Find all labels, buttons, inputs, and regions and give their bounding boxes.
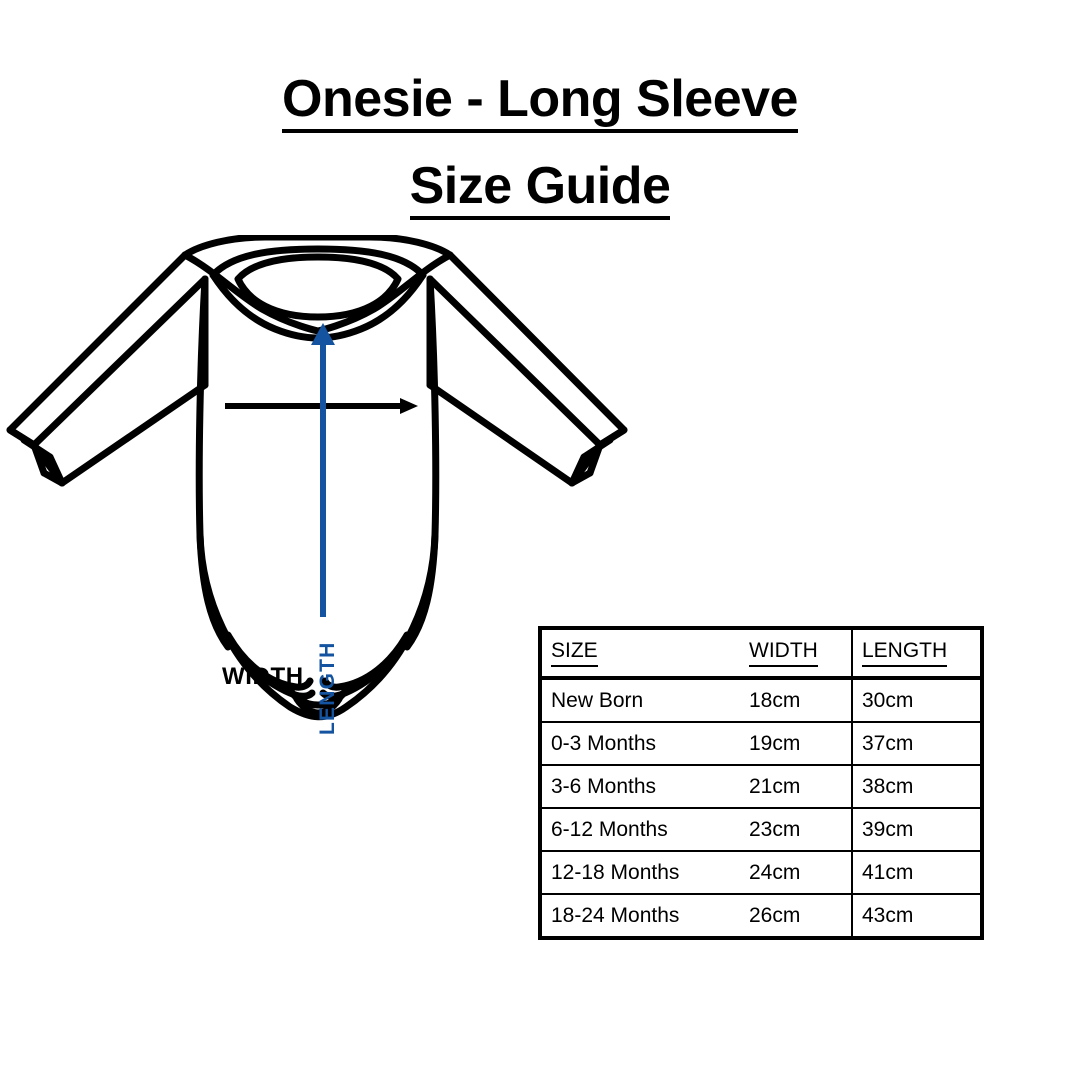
table-row: 18-24 Months 26cm 43cm — [540, 894, 982, 938]
title-line-2-text: Size Guide — [410, 159, 671, 220]
cell-width: 23cm — [740, 808, 852, 851]
title-line-1: Onesie - Long Sleeve — [0, 72, 1080, 133]
size-table: SIZE WIDTH LENGTH New Born 18cm 30cm 0-3… — [538, 626, 984, 940]
cell-length: 43cm — [852, 894, 982, 938]
cell-length: 41cm — [852, 851, 982, 894]
header-cell-size: SIZE — [540, 628, 740, 678]
table-row: 12-18 Months 24cm 41cm — [540, 851, 982, 894]
width-label: WIDTH — [222, 663, 304, 691]
length-measurement-arrow — [311, 323, 335, 617]
cell-length: 30cm — [852, 678, 982, 722]
page-title: Onesie - Long Sleeve Size Guide — [0, 72, 1080, 220]
left-sleeve-under-outline — [34, 385, 205, 483]
cell-length: 39cm — [852, 808, 982, 851]
right-sleeve-under-outline — [430, 385, 600, 483]
size-guide-page: Onesie - Long Sleeve Size Guide — [0, 0, 1080, 1080]
title-line-2: Size Guide — [0, 159, 1080, 220]
right-sleeve-top-outline — [430, 255, 624, 445]
cell-size: 12-18 Months — [540, 851, 740, 894]
cell-size: New Born — [540, 678, 740, 722]
cell-width: 21cm — [740, 765, 852, 808]
left-sleeve-top-outline — [10, 255, 205, 445]
cell-size: 6-12 Months — [540, 808, 740, 851]
cell-size: 0-3 Months — [540, 722, 740, 765]
cell-width: 18cm — [740, 678, 852, 722]
size-table-container: SIZE WIDTH LENGTH New Born 18cm 30cm 0-3… — [538, 626, 980, 940]
table-row: New Born 18cm 30cm — [540, 678, 982, 722]
header-label-width: WIDTH — [749, 639, 818, 666]
cell-size: 3-6 Months — [540, 765, 740, 808]
table-header-row: SIZE WIDTH LENGTH — [540, 628, 982, 678]
header-cell-length: LENGTH — [852, 628, 982, 678]
cell-length: 38cm — [852, 765, 982, 808]
table-row: 3-6 Months 21cm 38cm — [540, 765, 982, 808]
table-row: 6-12 Months 23cm 39cm — [540, 808, 982, 851]
header-label-length: LENGTH — [862, 639, 947, 666]
title-line-1-text: Onesie - Long Sleeve — [282, 72, 798, 133]
cell-width: 26cm — [740, 894, 852, 938]
header-cell-width: WIDTH — [740, 628, 852, 678]
cell-size: 18-24 Months — [540, 894, 740, 938]
neck-opening — [238, 257, 398, 317]
cell-width: 19cm — [740, 722, 852, 765]
header-label-size: SIZE — [551, 639, 598, 666]
cell-width: 24cm — [740, 851, 852, 894]
length-label: LENGTH — [316, 625, 340, 735]
table-row: 0-3 Months 19cm 37cm — [540, 722, 982, 765]
cell-length: 37cm — [852, 722, 982, 765]
